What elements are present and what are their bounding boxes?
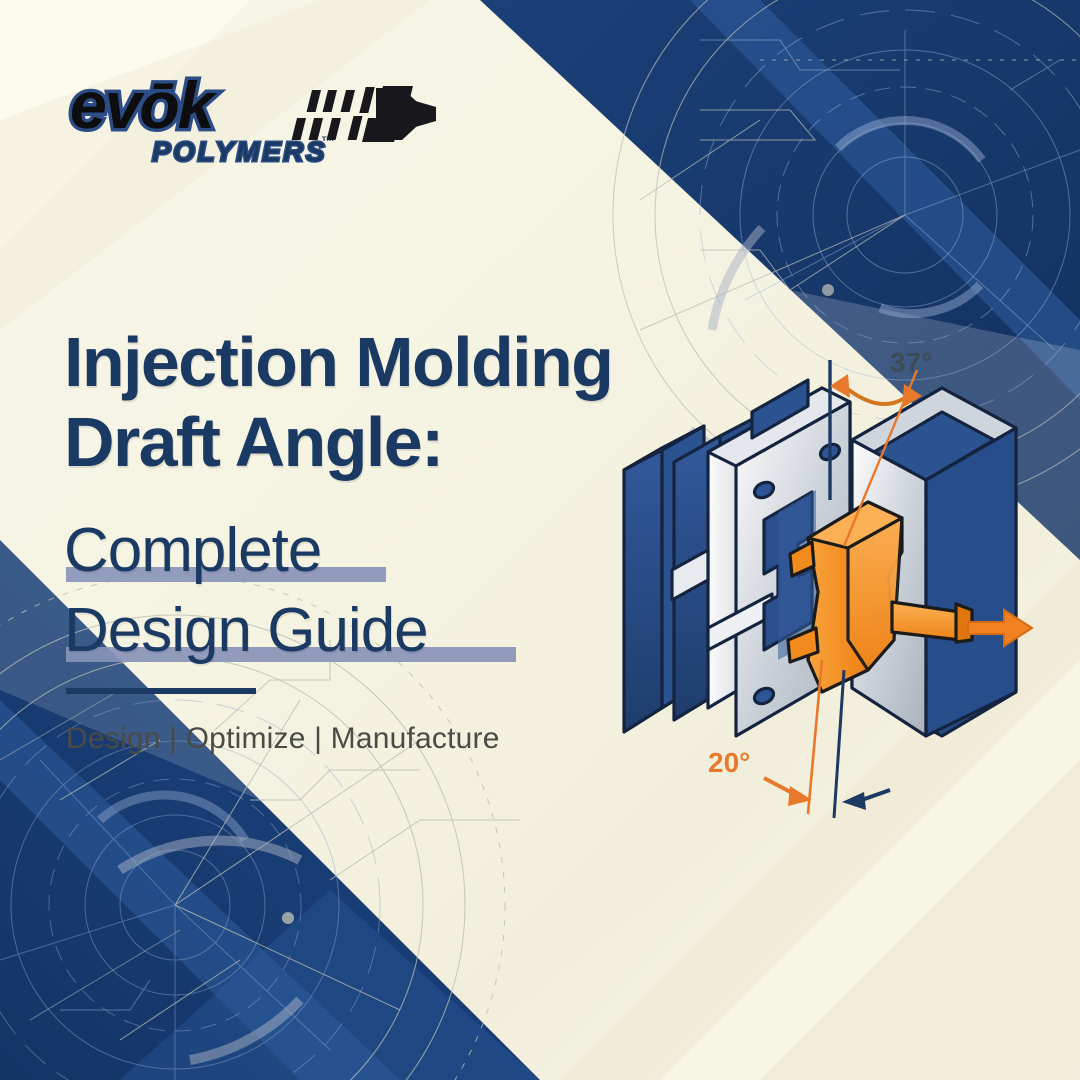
brand-sub-text: POLYMERS — [152, 136, 327, 167]
subtitle-row-2: Design Guide — [64, 595, 684, 675]
angle-label-top: 37° — [890, 347, 932, 378]
arrow-dart-icon — [291, 86, 436, 142]
subtitle-block: Complete Design Guide — [64, 515, 684, 675]
page-title: Injection Molding Draft Angle: — [64, 322, 684, 482]
brand-name-fill: evōk — [70, 68, 218, 142]
injection-mold-illustration: 37° 20° — [612, 340, 1072, 860]
tagline-text: Design | Optimize | Manufacture — [66, 722, 500, 756]
subtitle-row-1: Complete — [64, 515, 684, 595]
angle-label-bottom: 20° — [708, 747, 750, 778]
subtitle-line-2: Design Guide — [64, 595, 684, 667]
subtitle-line-1: Complete — [64, 515, 684, 587]
poster-canvas: evōk evōk POLYMERS ™ — [0, 0, 1080, 1080]
brand-logo[interactable]: evōk evōk POLYMERS ™ — [66, 66, 436, 171]
divider-rule — [66, 688, 256, 694]
logo-wordmark: evōk evōk POLYMERS ™ — [70, 68, 335, 167]
headline-line-2: Draft Angle: — [64, 402, 684, 482]
headline-line-1: Injection Molding — [64, 322, 684, 402]
